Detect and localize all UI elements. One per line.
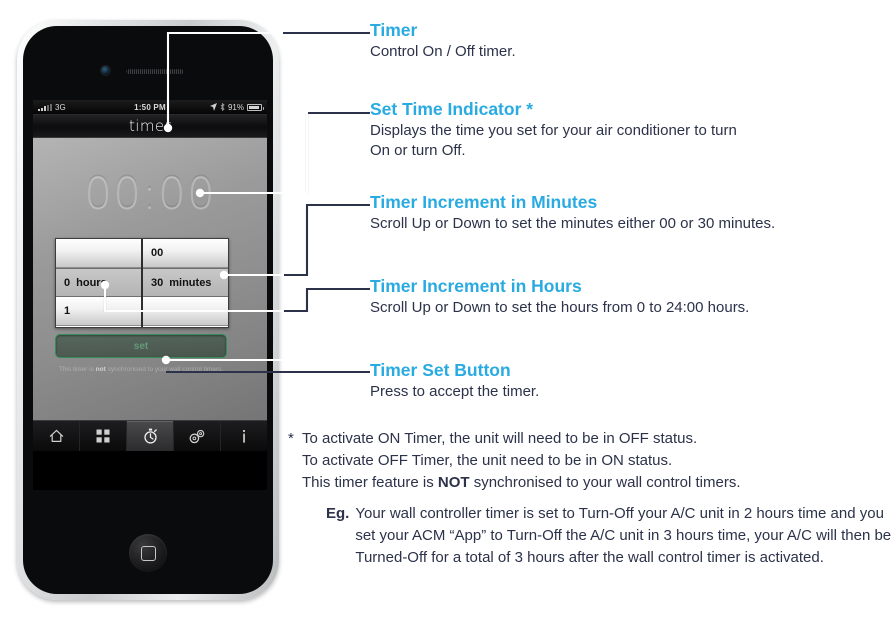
example-text: Your wall controller timer is set to Tur… bbox=[355, 503, 893, 568]
bluetooth-icon bbox=[220, 103, 225, 111]
annotation-title: Timer bbox=[370, 20, 870, 42]
location-arrow-icon bbox=[210, 103, 217, 111]
footnote-line-2: To activate OFF Timer, the unit need to … bbox=[288, 450, 893, 472]
footnote-text: To activate ON Timer, the unit will need… bbox=[302, 428, 893, 450]
annotation-body: Press to accept the timer. bbox=[370, 382, 790, 402]
battery-icon bbox=[247, 104, 262, 111]
footnote-example: Eg. Your wall controller timer is set to… bbox=[288, 503, 893, 568]
footnote-line-1: * To activate ON Timer, the unit will ne… bbox=[288, 428, 893, 450]
footnote-bold: NOT bbox=[438, 474, 470, 491]
footnote-line-3: This timer feature is NOT synchronised t… bbox=[288, 472, 893, 494]
status-bar-right: 91% bbox=[210, 103, 262, 112]
annotation-body: Scroll Up or Down to set the minutes eit… bbox=[370, 214, 810, 234]
annotation-timer-increment-minutes: Timer Increment in Minutes Scroll Up or … bbox=[370, 192, 810, 234]
footnotes: * To activate ON Timer, the unit will ne… bbox=[288, 428, 893, 569]
battery-percent-label: 91% bbox=[228, 103, 244, 112]
footnote-star-mark: * bbox=[288, 428, 302, 450]
footnote-spacer bbox=[288, 450, 302, 472]
footnote-spacer bbox=[288, 472, 302, 494]
annotation-body: Displays the time you set for your air c… bbox=[370, 121, 750, 161]
footnote-suffix: synchronised to your wall control timers… bbox=[470, 474, 741, 491]
annotation-timer: Timer Control On / Off timer. bbox=[370, 20, 870, 62]
annotation-title: Timer Set Button bbox=[370, 360, 790, 382]
footnote-text: This timer feature is NOT synchronised t… bbox=[302, 472, 893, 494]
annotation-timer-increment-hours: Timer Increment in Hours Scroll Up or Do… bbox=[370, 276, 790, 318]
annotation-timer-set-button: Timer Set Button Press to accept the tim… bbox=[370, 360, 790, 402]
annotation-title: Timer Increment in Minutes bbox=[370, 192, 810, 214]
annotation-title: Set Time Indicator * bbox=[370, 99, 750, 121]
example-label: Eg. bbox=[326, 503, 349, 568]
footnote-prefix: This timer feature is bbox=[302, 474, 438, 491]
annotation-title: Timer Increment in Hours bbox=[370, 276, 790, 298]
footnote-text: To activate OFF Timer, the unit need to … bbox=[302, 450, 893, 472]
annotation-body: Scroll Up or Down to set the hours from … bbox=[370, 298, 790, 318]
annotation-body: Control On / Off timer. bbox=[370, 42, 870, 62]
annotation-set-time-indicator: Set Time Indicator * Displays the time y… bbox=[370, 99, 750, 161]
